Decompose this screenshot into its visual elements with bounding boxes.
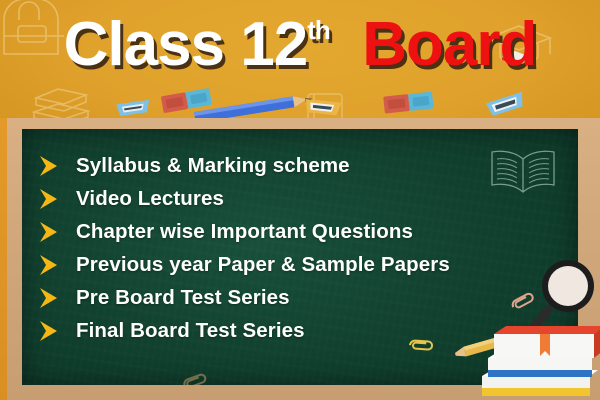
chevron-right-icon	[38, 320, 62, 342]
book-stack-outline-icon	[28, 82, 104, 118]
page-title: Class 12th Board	[0, 14, 600, 76]
list-item[interactable]: Chapter wise Important Questions	[22, 215, 578, 248]
list-item-label: Pre Board Test Series	[76, 286, 290, 310]
title-class-word: Class	[64, 10, 224, 79]
title-board-word: Board	[362, 10, 536, 79]
chevron-right-icon	[38, 155, 62, 177]
list-item[interactable]: Syllabus & Marking scheme	[22, 149, 578, 182]
chevron-right-icon	[38, 254, 62, 276]
list-item-label: Syllabus & Marking scheme	[76, 154, 350, 178]
chevron-right-icon	[38, 287, 62, 309]
list-item-label: Video Lectures	[76, 187, 224, 211]
book-stack-object	[478, 310, 600, 400]
eraser-object-2	[381, 87, 437, 118]
title-number: 12	[240, 10, 307, 79]
list-item-label: Previous year Paper & Sample Papers	[76, 253, 450, 277]
sharpener-object-2	[301, 94, 347, 118]
chevron-right-icon	[38, 221, 62, 243]
sharpener-object	[113, 93, 156, 118]
paper-clip-object-2	[403, 335, 438, 357]
poster-root: Class 12th Board	[0, 0, 600, 400]
list-item[interactable]: Previous year Paper & Sample Papers	[22, 248, 578, 281]
chevron-right-icon	[38, 188, 62, 210]
poster-header: Class 12th Board	[0, 0, 600, 118]
list-item-label: Chapter wise Important Questions	[76, 220, 413, 244]
title-superscript: th	[307, 15, 330, 45]
sharpener-object-3	[481, 85, 532, 118]
list-item[interactable]: Video Lectures	[22, 182, 578, 215]
list-item-label: Final Board Test Series	[76, 319, 305, 343]
frame-left-stripe	[0, 118, 7, 400]
